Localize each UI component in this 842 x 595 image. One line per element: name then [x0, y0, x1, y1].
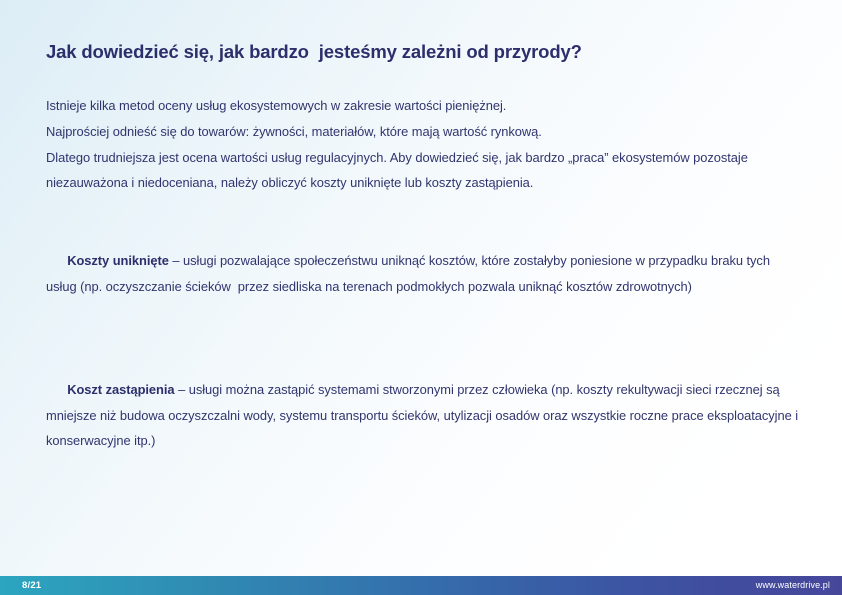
slide-title: Jak dowiedzieć się, jak bardzo jesteśmy …: [46, 40, 802, 64]
intro-paragraph: Istnieje kilka metod oceny usług ekosyst…: [46, 93, 802, 196]
definition-term-avoided-costs: Koszty uniknięte: [67, 253, 169, 268]
slide-footer: 8/21 www.waterdrive.pl: [0, 576, 842, 595]
footer-website-url[interactable]: www.waterdrive.pl: [756, 581, 830, 590]
page-indicator: 8/21: [22, 581, 41, 591]
slide-content: Jak dowiedzieć się, jak bardzo jesteśmy …: [46, 40, 802, 480]
presentation-slide: Jak dowiedzieć się, jak bardzo jesteśmy …: [0, 0, 842, 595]
definition-term-replacement-cost: Koszt zastąpienia: [67, 382, 174, 397]
definition-replacement-cost: Koszt zastąpienia – usługi można zastąpi…: [46, 351, 802, 480]
definition-avoided-costs: Koszty uniknięte – usługi pozwalające sp…: [46, 222, 802, 325]
